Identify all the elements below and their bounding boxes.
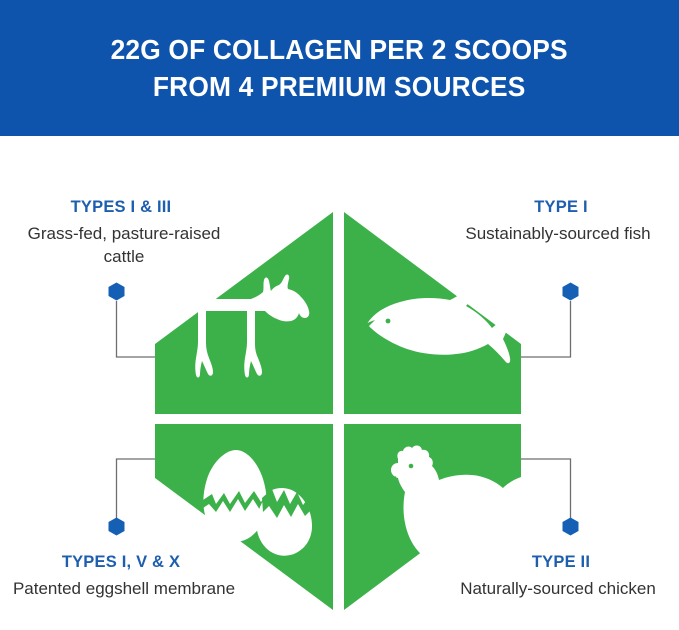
label-chicken-title: TYPE II bbox=[446, 553, 676, 573]
label-eggshell-description: Patented eggshell membrane bbox=[6, 577, 236, 600]
label-cattle: TYPES I & III Grass-fed, pasture-raised … bbox=[6, 198, 236, 268]
marker-hexagon-eggshell[interactable] bbox=[108, 517, 125, 536]
label-fish: TYPE I Sustainably-sourced fish bbox=[446, 198, 676, 245]
label-eggshell-title: TYPES I, V & X bbox=[6, 553, 236, 573]
label-cattle-description: Grass-fed, pasture-raised cattle bbox=[6, 222, 236, 268]
label-chicken-description: Naturally-sourced chicken bbox=[446, 577, 676, 600]
marker-hexagon-cattle[interactable] bbox=[108, 282, 125, 301]
label-cattle-title: TYPES I & III bbox=[6, 198, 236, 218]
banner-headline-line-2: FROM 4 PREMIUM SOURCES bbox=[153, 68, 526, 105]
label-chicken: TYPE II Naturally-sourced chicken bbox=[446, 553, 676, 600]
label-eggshell: TYPES I, V & X Patented eggshell membran… bbox=[6, 553, 236, 600]
label-fish-title: TYPE I bbox=[446, 198, 676, 218]
label-fish-description: Sustainably-sourced fish bbox=[446, 222, 676, 245]
marker-hexagon-chicken[interactable] bbox=[562, 517, 579, 536]
marker-hexagon-fish[interactable] bbox=[562, 282, 579, 301]
banner-headline-line-1: 22G OF COLLAGEN PER 2 SCOOPS bbox=[111, 31, 568, 68]
header-banner: 22G OF COLLAGEN PER 2 SCOOPS FROM 4 PREM… bbox=[0, 0, 679, 136]
collagen-sources-infographic: 22G OF COLLAGEN PER 2 SCOOPS FROM 4 PREM… bbox=[0, 0, 679, 630]
